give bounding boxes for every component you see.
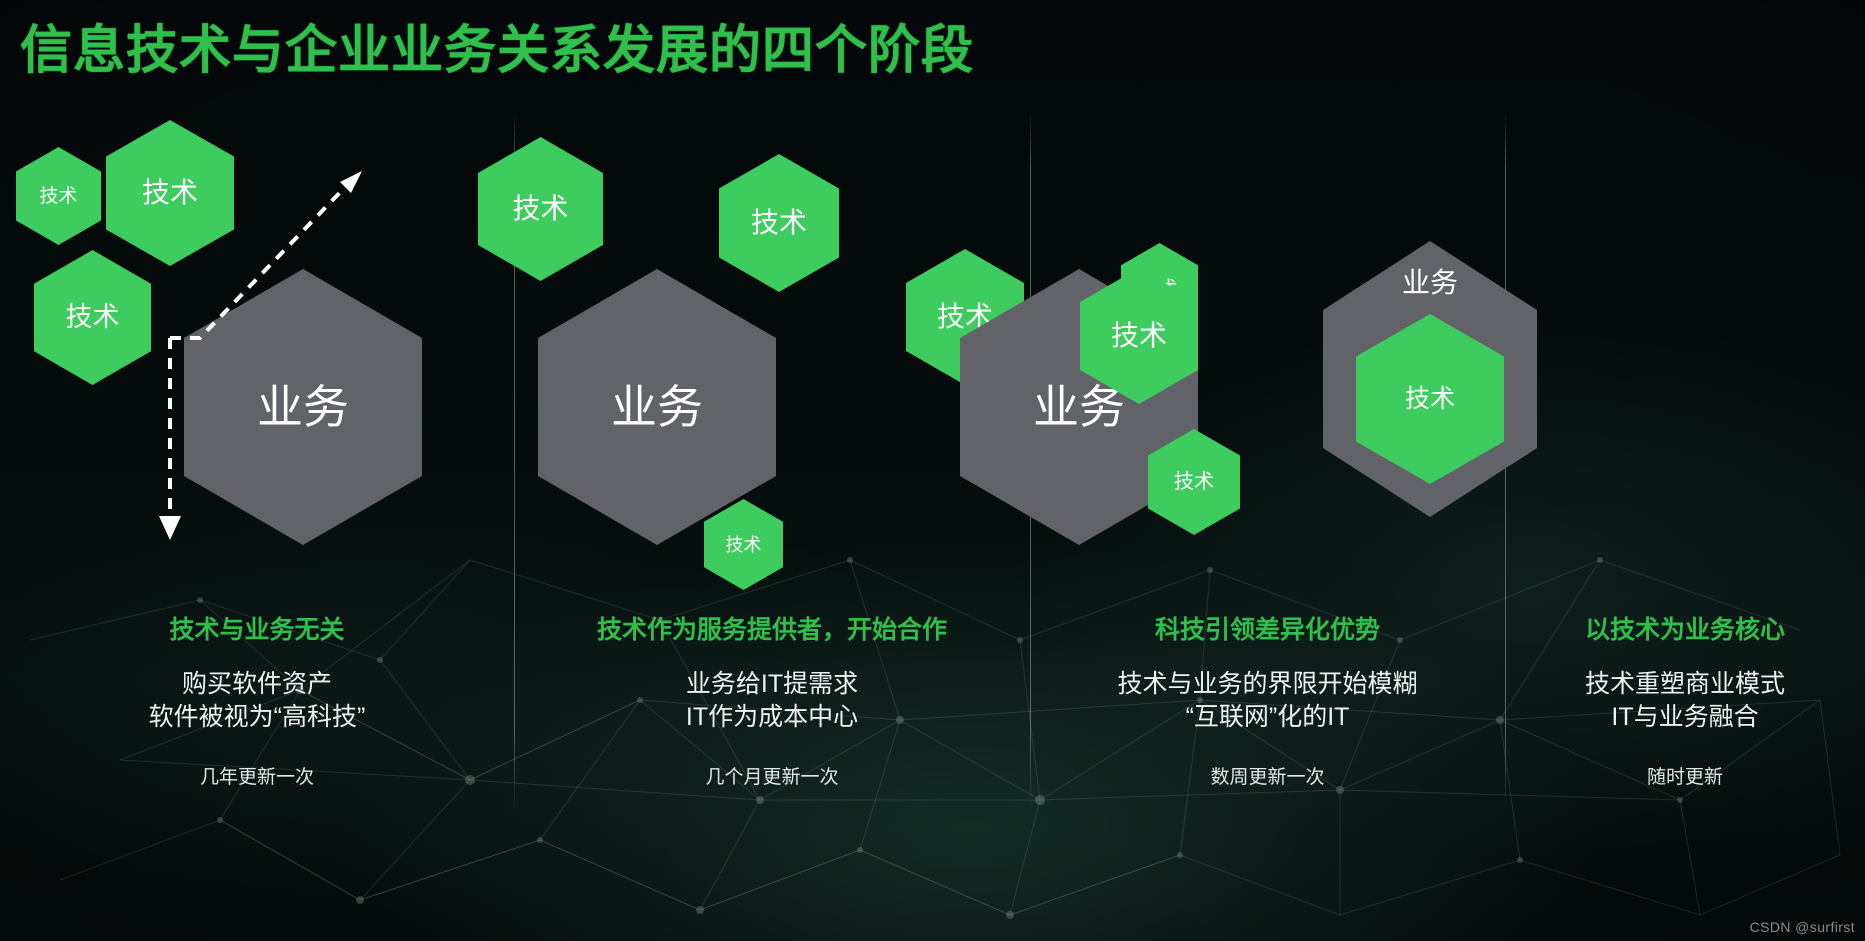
watermark: CSDN @surfirst <box>1750 919 1855 935</box>
hex-label: 技术 <box>1405 387 1455 412</box>
stage3-heading: 科技引领差异化优势 <box>1030 610 1505 646</box>
stage1-heading: 技术与业务无关 <box>0 610 514 646</box>
stage2-caption: 技术作为服务提供者，开始合作 业务给IT提需求 IT作为成本中心 几个月更新一次 <box>514 610 1030 789</box>
hex-label: 技术 <box>726 536 762 554</box>
stage3-body-line1: 技术与业务的界限开始模糊 <box>1030 668 1505 701</box>
stage2-heading: 技术作为服务提供者，开始合作 <box>514 610 1030 646</box>
stage3-body-line2: “互联网”化的IT <box>1030 701 1505 734</box>
hex-label: 业务 <box>1033 384 1125 430</box>
hex-label: 技术 <box>751 209 807 237</box>
stage4-cadence: 随时更新 <box>1505 762 1865 789</box>
stage1-body-line2: 软件被视为“高科技” <box>0 701 514 734</box>
hex-label: 业务 <box>611 384 703 430</box>
slide-canvas: 信息技术与企业业务关系发展的四个阶段 技术 技术 技术 业务 技术 技术 业务 … <box>0 0 1865 941</box>
hex-label: 技术 <box>512 195 568 223</box>
stage4-caption: 以技术为业务核心 技术重塑商业模式 IT与业务融合 随时更新 <box>1505 610 1865 789</box>
hex-label: 业务 <box>1402 269 1458 297</box>
arrow-up-right-head <box>340 171 362 193</box>
hex-label: 技术 <box>1174 472 1214 492</box>
stage3-cadence: 数周更新一次 <box>1030 762 1505 789</box>
stage1-cadence: 几年更新一次 <box>0 762 514 789</box>
stage3-caption: 科技引领差异化优势 技术与业务的界限开始模糊 “互联网”化的IT 数周更新一次 <box>1030 610 1505 789</box>
stage1-arrows <box>0 0 1865 941</box>
stage1-body-line1: 购买软件资产 <box>0 668 514 701</box>
stage4-heading: 以技术为业务核心 <box>1505 610 1865 646</box>
stage4-body-line2: IT与业务融合 <box>1505 701 1865 734</box>
stage2-body-line2: IT作为成本中心 <box>514 701 1030 734</box>
stage2-cadence: 几个月更新一次 <box>514 762 1030 789</box>
stage1-caption: 技术与业务无关 购买软件资产 软件被视为“高科技” 几年更新一次 <box>0 610 514 789</box>
stage4-body-line1: 技术重塑商业模式 <box>1505 668 1865 701</box>
arrow-down-head <box>159 516 181 540</box>
stage2-body-line1: 业务给IT提需求 <box>514 668 1030 701</box>
arrow-up-right-line <box>170 182 350 338</box>
hex-label: 技术 <box>1111 322 1167 350</box>
